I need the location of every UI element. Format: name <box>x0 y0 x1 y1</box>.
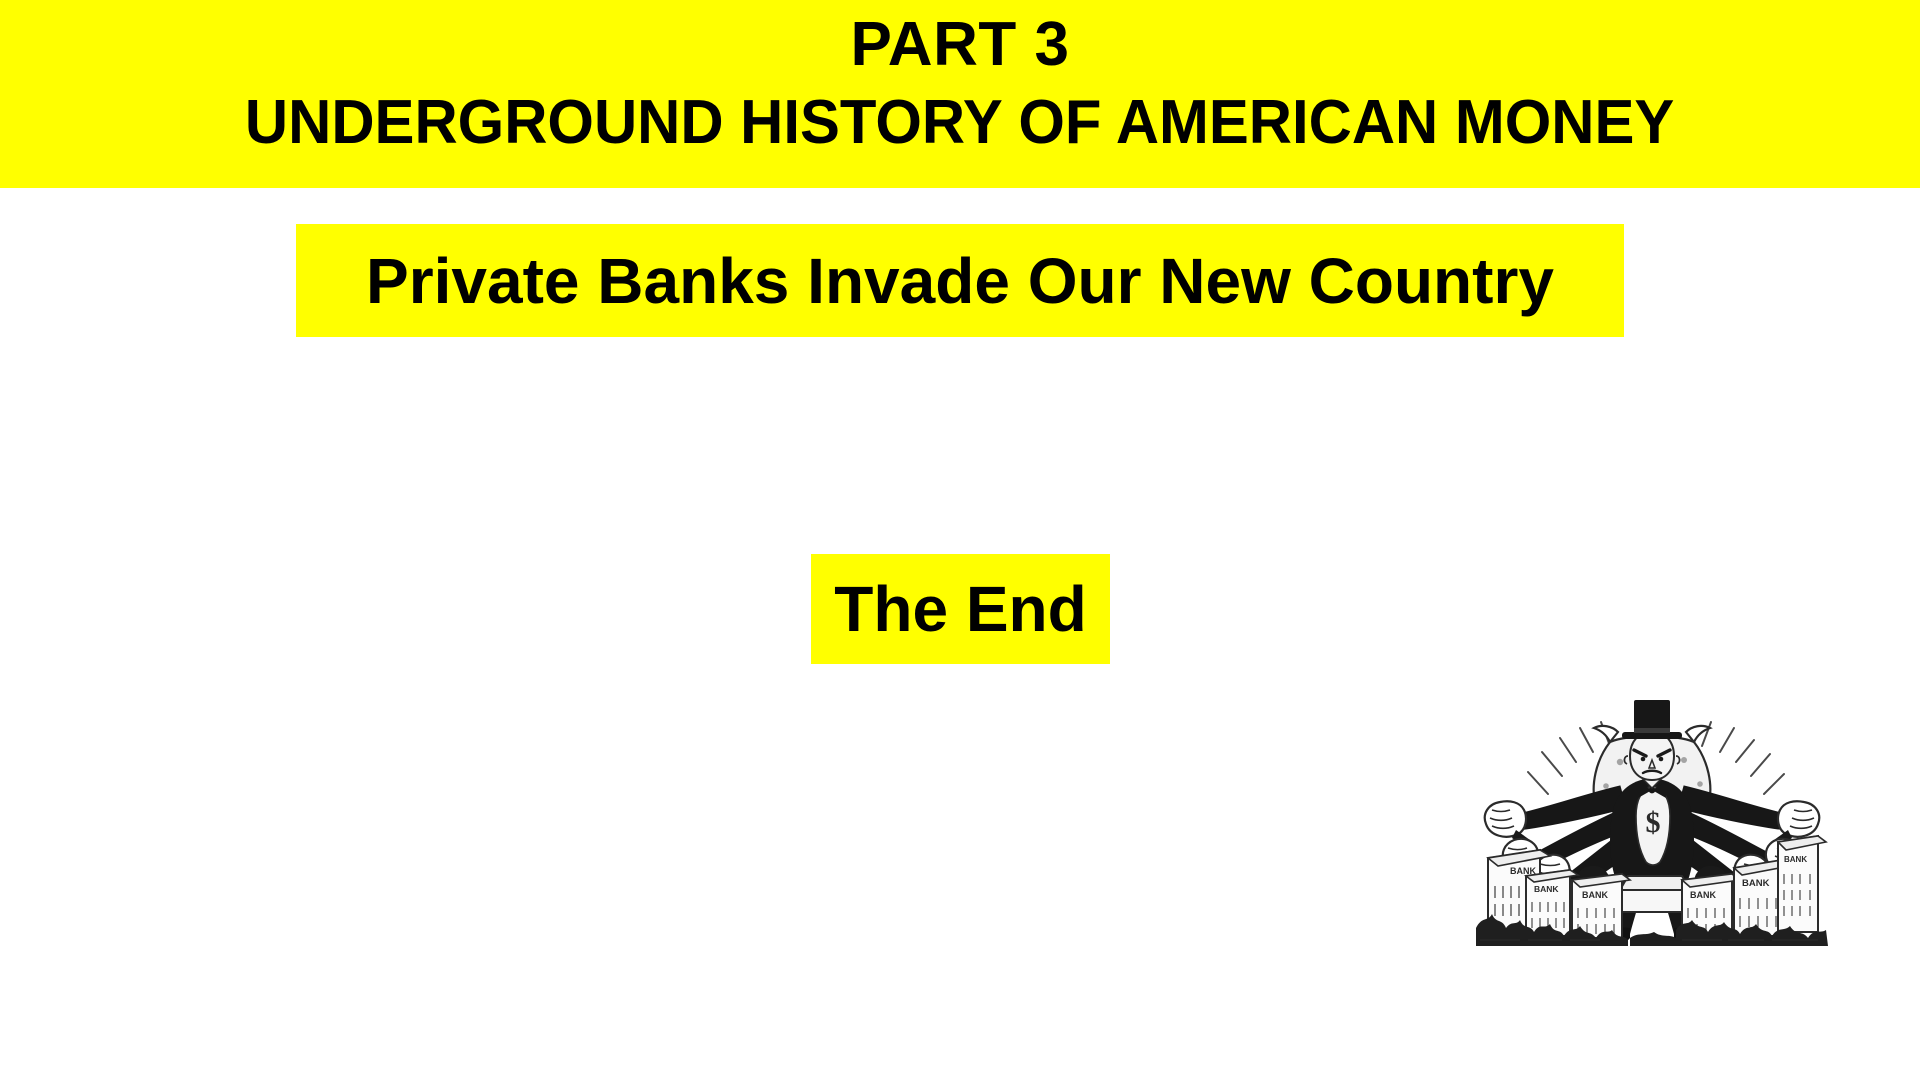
subtitle-text: Private Banks Invade Our New Country <box>366 245 1554 317</box>
svg-text:BANK: BANK <box>1742 878 1770 889</box>
title-line-subject: UNDERGROUND HISTORY OF AMERICAN MONEY <box>245 84 1674 162</box>
svg-text:BANK: BANK <box>1582 890 1608 900</box>
the-end-highlight-box: The End <box>811 554 1110 664</box>
svg-text:BANK: BANK <box>1690 890 1716 900</box>
title-banner: PART 3 UNDERGROUND HISTORY OF AMERICAN M… <box>0 0 1920 188</box>
svg-text:BANK: BANK <box>1534 884 1559 894</box>
subtitle-highlight-box: Private Banks Invade Our New Country <box>296 224 1624 337</box>
svg-text:$: $ <box>1646 806 1661 839</box>
title-line-part: PART 3 <box>851 6 1070 84</box>
the-end-text: The End <box>834 573 1086 645</box>
svg-text:BANK: BANK <box>1784 855 1807 864</box>
octopus-banker-cartoon-icon: $ <box>1470 690 1834 952</box>
octopus-banker-cartoon-image: $ <box>1470 690 1834 952</box>
